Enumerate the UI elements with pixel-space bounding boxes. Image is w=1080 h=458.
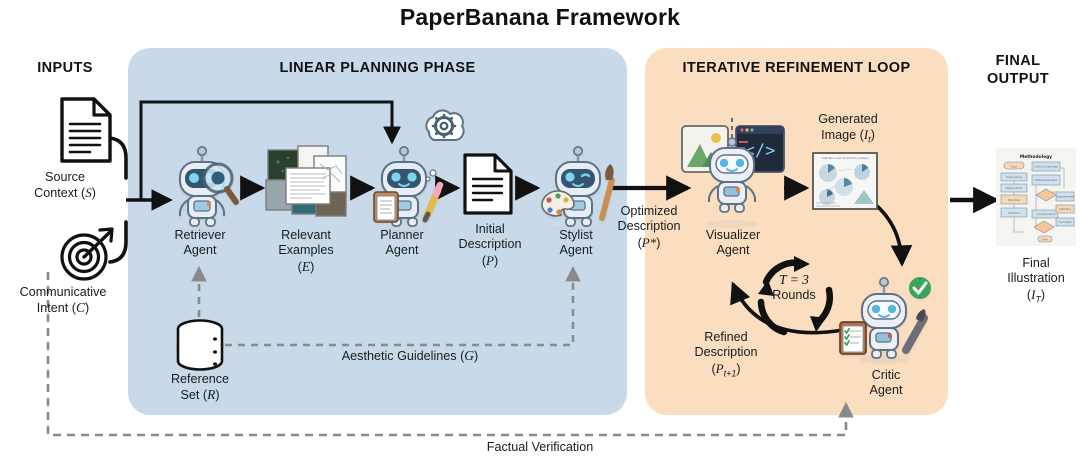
stage-label-initial-description: Initial Description (P) [444,222,536,269]
stage-label-critic-agent-line1: Critic [842,368,930,383]
target-icon [56,225,118,283]
final-illustration-line2: Illustration [982,271,1080,286]
stage-label-critic-agent: Critic Agent [842,368,930,399]
svg-text:Compute metrics: Compute metrics [1037,213,1057,216]
factual-verification-label: Factual Verification [390,440,690,455]
checklist-clipboard-glyph [840,322,866,354]
svg-text:Final output: Final output [1059,221,1072,224]
symbol-optimized-description: P* [642,235,656,250]
pencil-glyph [425,185,440,220]
svg-text:Calibration and Uncertainty An: Calibration and Uncertainty Analysis [821,156,869,160]
stage-label-critic-agent-line2: Agent [842,383,930,398]
stage-label-retriever-agent: Retriever Agent [150,228,250,259]
input-label-source-context-line2: Context (S) [6,185,124,201]
final-illustration-line1: Final [982,256,1080,271]
final-output-heading: FINAL OUTPUT [958,52,1078,88]
critic-robot-icon [838,268,932,364]
page-title: PaperBanana Framework [0,4,1080,31]
stage-label-visualizer-agent-line1: Visualizer [686,228,780,243]
stage-label-planner-agent-line2: Agent [352,243,452,258]
symbol-initial-description: P [486,253,494,268]
final-illustration-thumbnail: Methodology I [996,148,1076,246]
stage-label-reference-set: Reference Set (R) [150,372,250,404]
svg-text:Hyperparameter: Hyperparameter [1056,196,1074,199]
stage-label-relevant-examples-line1: Relevant [252,228,360,243]
loop-badge-label: T = 3 Rounds [758,272,830,303]
visualizer-robot-icon: </> [678,112,786,230]
stage-label-retriever-agent-line2: Agent [150,243,250,258]
symbol-communicative-intent: C [76,300,85,315]
final-illustration-thumbnail-title: Methodology [1020,154,1052,160]
input-label-source-context-line1: Source [6,170,124,185]
symbol-aesthetic-guidelines: G [464,348,474,363]
stage-label-initial-description-line1: Initial [444,222,536,237]
symbol-reference-set: R [207,387,215,402]
loop-badge-unit: Rounds [758,288,830,303]
svg-text:Collect and label data: Collect and label data [1034,166,1059,169]
refined-description-line1: Refined [676,330,776,345]
panel-linear-planning-phase-title: LINEAR PLANNING PHASE [128,60,627,77]
pen-glyph [906,309,926,350]
stage-label-planner-agent: Planner Agent [352,228,452,259]
examples-collage-icon [262,140,350,232]
database-icon [173,318,227,374]
svg-text:Evaluation: Evaluation [1008,212,1020,215]
input-label-communicative-intent-line2: Intent (C) [0,300,126,316]
symbol-source-context: S [85,185,92,200]
final-output-heading-line1: FINAL [958,52,1078,70]
svg-text:Model train: Model train [1008,199,1021,202]
stage-label-retriever-agent-line1: Retriever [150,228,250,243]
svg-text:Input: Input [1011,166,1017,169]
stage-label-reference-set-line1: Reference [150,372,250,387]
check-badge-icon [909,277,931,299]
initial-description-document-icon [462,152,514,216]
input-label-source-context: Source Context (S) [6,170,124,202]
svg-text:Done: Done [1042,239,1048,242]
input-label-communicative-intent-line1: Communicative [0,285,126,300]
generated-image-line1: Generated [796,112,900,127]
stage-label-planner-agent-line1: Planner [352,228,452,243]
svg-text:Feature extract: Feature extract [1006,187,1023,190]
inputs-heading: INPUTS [6,60,124,77]
loop-badge-equation: T = 3 [758,272,830,288]
symbol-relevant-examples: E [302,259,310,274]
generated-image-label: Generated Image (It) [796,112,900,146]
panel-iterative-refinement-loop-title: ITERATIVE REFINEMENT LOOP [645,60,948,77]
document-icon [58,96,114,164]
svg-text:Calibrating: Calibrating [1059,208,1072,211]
svg-text:Validate parameters: Validate parameters [1035,179,1058,182]
input-label-communicative-intent: Communicative Intent (C) [0,285,126,317]
stage-label-reference-set-line2: Set (R) [150,387,250,403]
refined-description-line2: Description [676,345,776,360]
final-illustration-label: Final Illustration (IT) [982,256,1080,305]
generated-image-line2: Image (It) [796,127,900,145]
gear-icon [416,108,468,154]
clipboard-glyph [374,192,398,222]
refined-description-label: Refined Description (Pt+1) [676,330,776,379]
thought-bubble-glyph [426,170,436,181]
retriever-robot-icon [166,140,242,232]
stage-label-relevant-examples-line2: Examples [252,243,360,258]
svg-text:Preprocessing: Preprocessing [1006,176,1022,179]
final-output-heading-line2: OUTPUT [958,70,1078,88]
stage-label-initial-description-line2: Description [444,237,536,252]
aesthetic-guidelines-label: Aesthetic Guidelines (G) [300,348,520,364]
stage-label-relevant-examples: Relevant Examples (E) [252,228,360,275]
symbol-refined-description: P [716,361,724,376]
diagram-canvas: PaperBanana Framework LINEAR PLANNING PH… [0,0,1080,458]
generated-image-thumbnail: Calibration and Uncertainty Analysis [812,152,878,210]
